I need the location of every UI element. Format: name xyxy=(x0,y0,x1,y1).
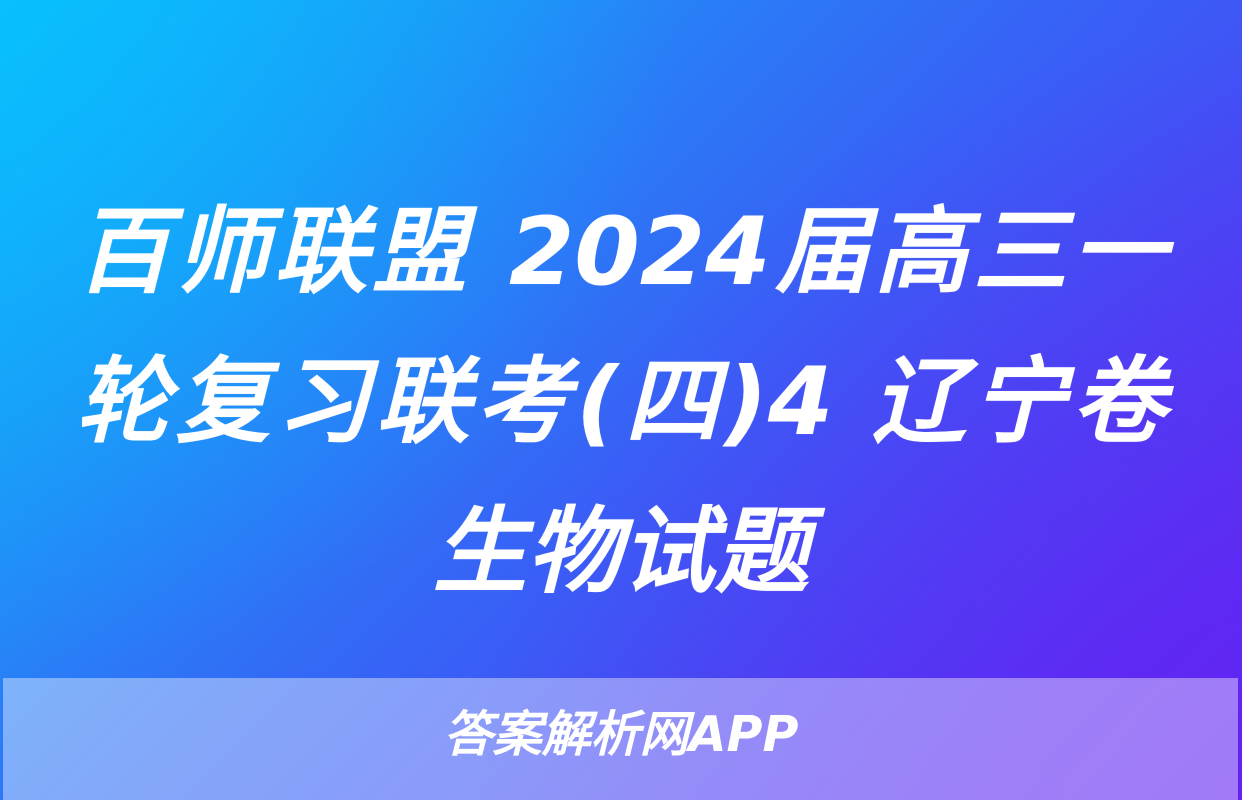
title-line-2: 轮复习联考(四)4 辽宁卷 xyxy=(76,328,1166,478)
title-line-1: 百师联盟 2024届高三一 xyxy=(76,178,1166,328)
cover-card: 百师联盟 2024届高三一 轮复习联考(四)4 辽宁卷 生物试题 答案解析网AP… xyxy=(0,0,1242,800)
title-line-3: 生物试题 xyxy=(76,478,1166,628)
page-title: 百师联盟 2024届高三一 轮复习联考(四)4 辽宁卷 生物试题 xyxy=(76,178,1166,628)
watermark-label: 答案解析网APP xyxy=(0,706,1242,764)
